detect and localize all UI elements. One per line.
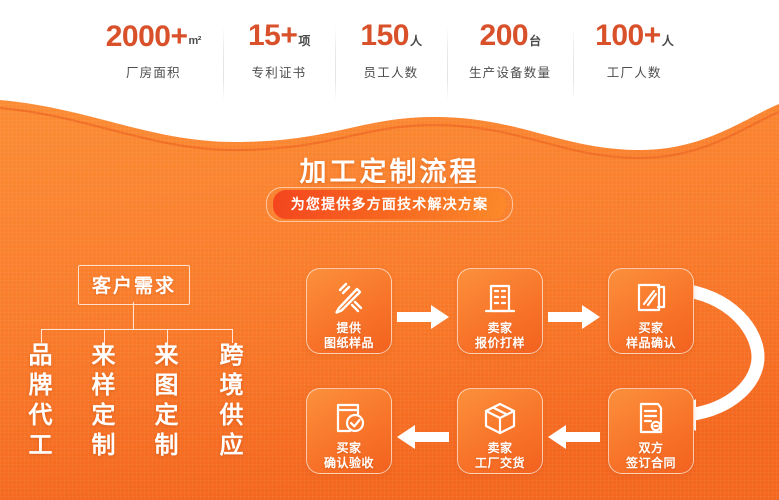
card-caption: 买家确认验收 [324, 441, 374, 470]
stat-item: 200台 生产设备数量 [447, 19, 573, 81]
process-card-buyer-sample-confirm[interactable]: 买家样品确认 [608, 268, 694, 354]
process-card-buyer-acceptance[interactable]: 买家确认验收 [306, 388, 392, 474]
tree-stem [133, 302, 134, 330]
subtitle-pill: 为您提供多方面技术解决方案 [273, 190, 507, 219]
stat-number: 15+项 [245, 19, 313, 58]
subtitle-pill-ring: 为您提供多方面技术解决方案 [266, 187, 514, 222]
card-caption: 买家样品确认 [626, 321, 676, 350]
tree-crossbar [41, 329, 233, 330]
stat-item: 2000+m² 厂房面积 [84, 20, 223, 81]
stat-number: 150人 [357, 19, 425, 58]
tree-branch-label: 跨境供应 [218, 341, 246, 461]
stat-unit: m² [189, 35, 201, 47]
tree-root-label: 客户需求 [78, 265, 190, 305]
tree-branch-label: 来样定制 [90, 341, 118, 461]
checklist-approve-icon [330, 397, 368, 439]
process-flow: 提供图纸样品 卖家报价打样 [290, 255, 779, 500]
sample-sheets-icon [632, 277, 670, 319]
process-card-provide-drawings[interactable]: 提供图纸样品 [306, 268, 392, 354]
stat-label: 专利证书 [245, 62, 313, 81]
stats-bar: 2000+m² 厂房面积 15+项 专利证书 150人 员工人数 200台 生产… [0, 0, 779, 100]
stat-number: 200台 [469, 19, 551, 58]
customer-needs-tree: 客户需求 品牌代工 来样定制 来图定制 跨境供应 [0, 255, 290, 500]
factory-building-icon [481, 277, 519, 319]
card-caption: 提供图纸样品 [324, 321, 374, 350]
stat-label: 工厂人数 [595, 62, 673, 81]
contract-document-icon [632, 397, 670, 439]
stat-unit: 人 [410, 34, 422, 48]
process-card-seller-quote[interactable]: 卖家报价打样 [457, 268, 543, 354]
card-caption: 双方签订合同 [626, 441, 676, 470]
process-card-sign-contract[interactable]: 双方签订合同 [608, 388, 694, 474]
stat-item: 150人 员工人数 [335, 19, 447, 81]
stat-unit: 台 [529, 34, 541, 48]
stat-label: 厂房面积 [106, 62, 201, 81]
stat-unit: 项 [298, 34, 310, 48]
stat-label: 生产设备数量 [469, 62, 551, 81]
subtitle-pill-wrapper: 为您提供多方面技术解决方案 [0, 187, 779, 222]
stat-item: 100+人 工厂人数 [573, 19, 695, 81]
stat-label: 员工人数 [357, 62, 425, 81]
tree-branch-label: 品牌代工 [27, 341, 55, 461]
stat-number: 2000+m² [106, 20, 201, 58]
section-title: 加工定制流程 [0, 150, 779, 189]
arrow-right-1 [397, 305, 449, 329]
tree-branch-label: 来图定制 [153, 341, 181, 461]
card-caption: 卖家报价打样 [475, 321, 525, 350]
arrow-left-2 [397, 425, 449, 449]
process-card-factory-delivery[interactable]: 卖家工厂交货 [457, 388, 543, 474]
card-caption: 卖家工厂交货 [475, 441, 525, 470]
arrow-left-1 [548, 425, 600, 449]
stat-number: 100+人 [595, 19, 673, 58]
package-box-icon [481, 397, 519, 439]
stat-unit: 人 [662, 34, 674, 48]
arrow-right-2 [548, 305, 600, 329]
pencil-ruler-icon [330, 277, 368, 319]
stat-item: 15+项 专利证书 [223, 19, 335, 81]
